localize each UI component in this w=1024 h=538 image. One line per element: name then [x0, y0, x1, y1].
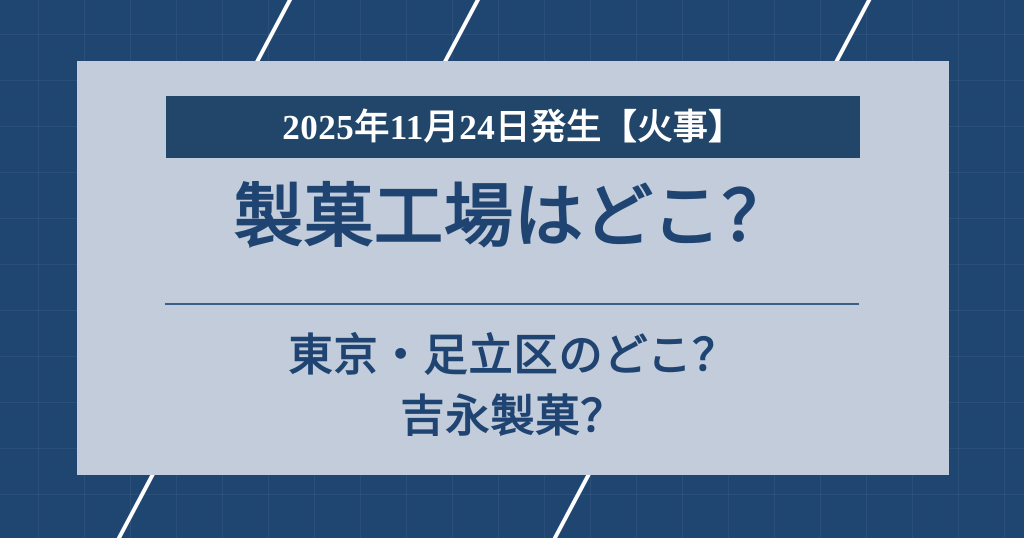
page-title: 製菓工場はどこ？ — [77, 180, 949, 255]
subtitle-line-1: 東京・足立区のどこ？ — [77, 326, 949, 387]
subtitle-line-2: 吉永製菓？ — [77, 387, 949, 448]
date-banner: 2025年11月24日発生【火事】 — [166, 96, 860, 158]
subtitle-block: 東京・足立区のどこ？ 吉永製菓？ — [77, 326, 949, 447]
horizontal-divider — [165, 303, 859, 305]
thumbnail-canvas: 2025年11月24日発生【火事】 製菓工場はどこ？ 東京・足立区のどこ？ 吉永… — [0, 0, 1024, 538]
headline-block: 製菓工場はどこ？ — [77, 180, 949, 255]
date-banner-label: 2025年11月24日発生【火事】 — [282, 110, 744, 145]
